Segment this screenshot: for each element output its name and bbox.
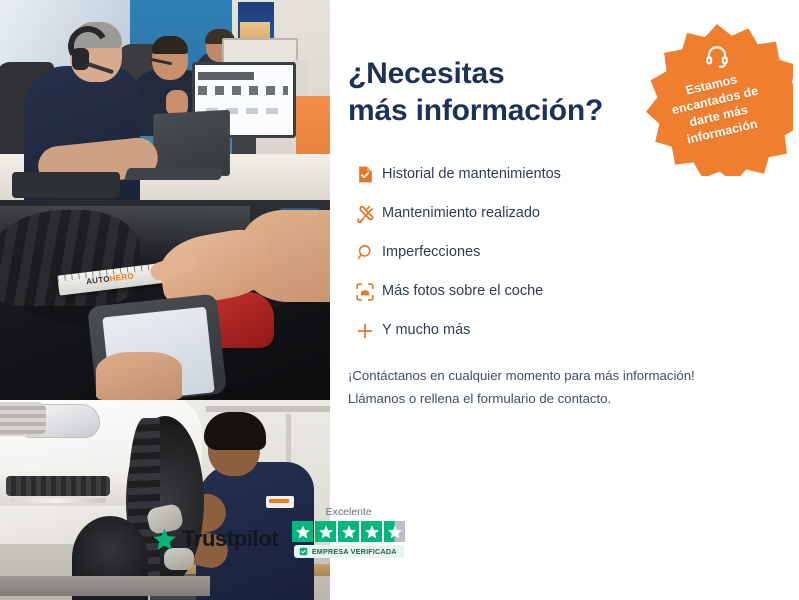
feature-label: Mantenimiento realizado (382, 206, 540, 221)
feature-list: Historial de mantenimientos Mantenimient… (348, 155, 771, 350)
car-inspection-ruler-photo: AUTOHERO (0, 200, 330, 400)
tools-wrench-icon (348, 204, 382, 224)
agent-one-earcup (72, 48, 89, 70)
feature-item-mantenimiento: Mantenimiento realizado (348, 194, 771, 233)
feature-item-imperfecciones: Imperfecciones (348, 233, 771, 272)
car-grille (0, 402, 46, 436)
verified-label: EMPRESA VERIFICADA (312, 547, 397, 556)
verified-check-icon (299, 547, 308, 556)
mechanic-hair (204, 412, 266, 450)
info-badge: Estamos encantados de darte más informac… (641, 24, 793, 176)
verified-company-badge: EMPRESA VERIFICADA (294, 545, 404, 558)
star-4 (361, 521, 382, 542)
contact-line-2: Llámanos o rellena el formulario de cont… (348, 391, 611, 406)
magnifier-icon (348, 243, 382, 262)
desk-tablet (12, 172, 120, 198)
feature-item-fotos: Más fotos sobre el coche (348, 272, 771, 311)
car-photo-icon (348, 282, 382, 302)
feature-label: Más fotos sobre el coche (382, 284, 543, 299)
page-title-line-2: más información? (348, 94, 603, 127)
bumper-vent (6, 476, 110, 496)
star-1 (292, 521, 313, 542)
mechanic-wheel-photo (0, 400, 330, 600)
laptop-screen (153, 110, 230, 176)
contact-line-1: ¡Contáctanos en cualquier momento para m… (348, 368, 695, 383)
trustpilot-logo[interactable]: Trustpilot (152, 526, 278, 558)
trustpilot-rating: Excelente (292, 506, 405, 558)
star-5-half (384, 521, 405, 542)
rating-label: Excelente (326, 506, 372, 518)
page-title: ¿Necesitas más información? (348, 56, 648, 129)
trustpilot-widget[interactable]: Trustpilot Excelente (152, 506, 405, 558)
call-center-agents-photo (0, 0, 330, 200)
workshop-shelf (206, 406, 330, 412)
contact-text: ¡Contáctanos en cualquier momento para m… (348, 364, 771, 410)
feature-label: Historial de mantenimientos (382, 167, 561, 182)
info-banner: AUTOHERO (0, 0, 799, 600)
star-2 (315, 521, 336, 542)
plus-icon (348, 321, 382, 341)
laptop-keyboard (124, 168, 224, 180)
trustpilot-wordmark: Trustpilot (182, 526, 278, 552)
autohero-logo-right: HERO (109, 271, 134, 283)
autohero-logo-left: AUTO (86, 274, 111, 286)
page-title-line-1: ¿Necesitas (348, 57, 504, 90)
document-check-icon (348, 165, 382, 184)
feature-label: Imperfecciones (382, 245, 480, 260)
chrome-trim (10, 498, 106, 503)
monitor-icon-row (198, 86, 288, 95)
feature-label: Y mucho más (382, 323, 470, 338)
agent-two-hair (152, 36, 188, 54)
star-3 (338, 521, 359, 542)
vehicle-lift-platform (0, 576, 210, 596)
headset-icon (704, 43, 730, 69)
rating-stars (292, 521, 405, 542)
technician-hand-lower (96, 352, 182, 400)
trustpilot-star-icon (152, 527, 177, 552)
feature-item-mas: Y mucho más (348, 311, 771, 350)
monitor-toolbar (198, 72, 254, 80)
